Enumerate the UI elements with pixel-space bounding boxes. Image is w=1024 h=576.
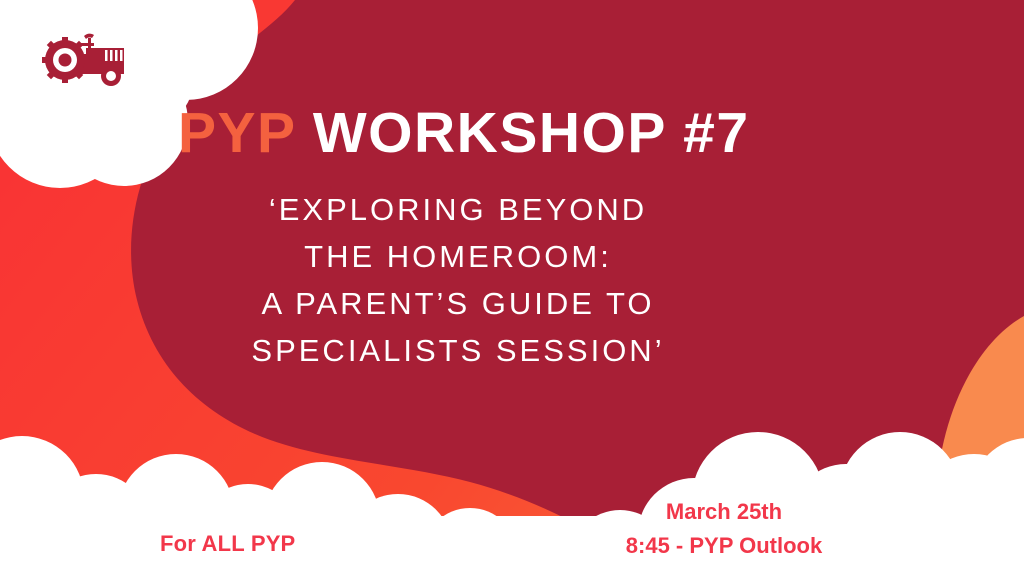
page-title: PYP WORKSHOP #7 xyxy=(178,104,878,164)
title-accent-word: PYP xyxy=(178,101,296,165)
title-main-words: WORKSHOP #7 xyxy=(313,101,750,165)
event-details: March 25th 8:45 - PYP Outlook xyxy=(584,495,864,563)
poster-canvas: PYP WORKSHOP #7 ‘EXPLORING BEYOND THE HO… xyxy=(0,0,1024,576)
subtitle-line-2: THE HOMEROOM: xyxy=(178,233,738,280)
subtitle: ‘EXPLORING BEYOND THE HOMEROOM: A PARENT… xyxy=(178,164,738,374)
subtitle-line-3: A PARENT’S GUIDE TO xyxy=(178,280,738,327)
audience-label: For ALL PYP xyxy=(160,531,295,557)
subtitle-line-4: SPECIALISTS SESSION’ xyxy=(178,327,738,374)
subtitle-line-1: ‘EXPLORING BEYOND xyxy=(178,186,738,233)
tractor-icon xyxy=(42,30,130,88)
event-date: March 25th xyxy=(584,495,864,529)
title-block: PYP WORKSHOP #7 ‘EXPLORING BEYOND THE HO… xyxy=(178,104,878,374)
event-time-location: 8:45 - PYP Outlook xyxy=(584,529,864,563)
